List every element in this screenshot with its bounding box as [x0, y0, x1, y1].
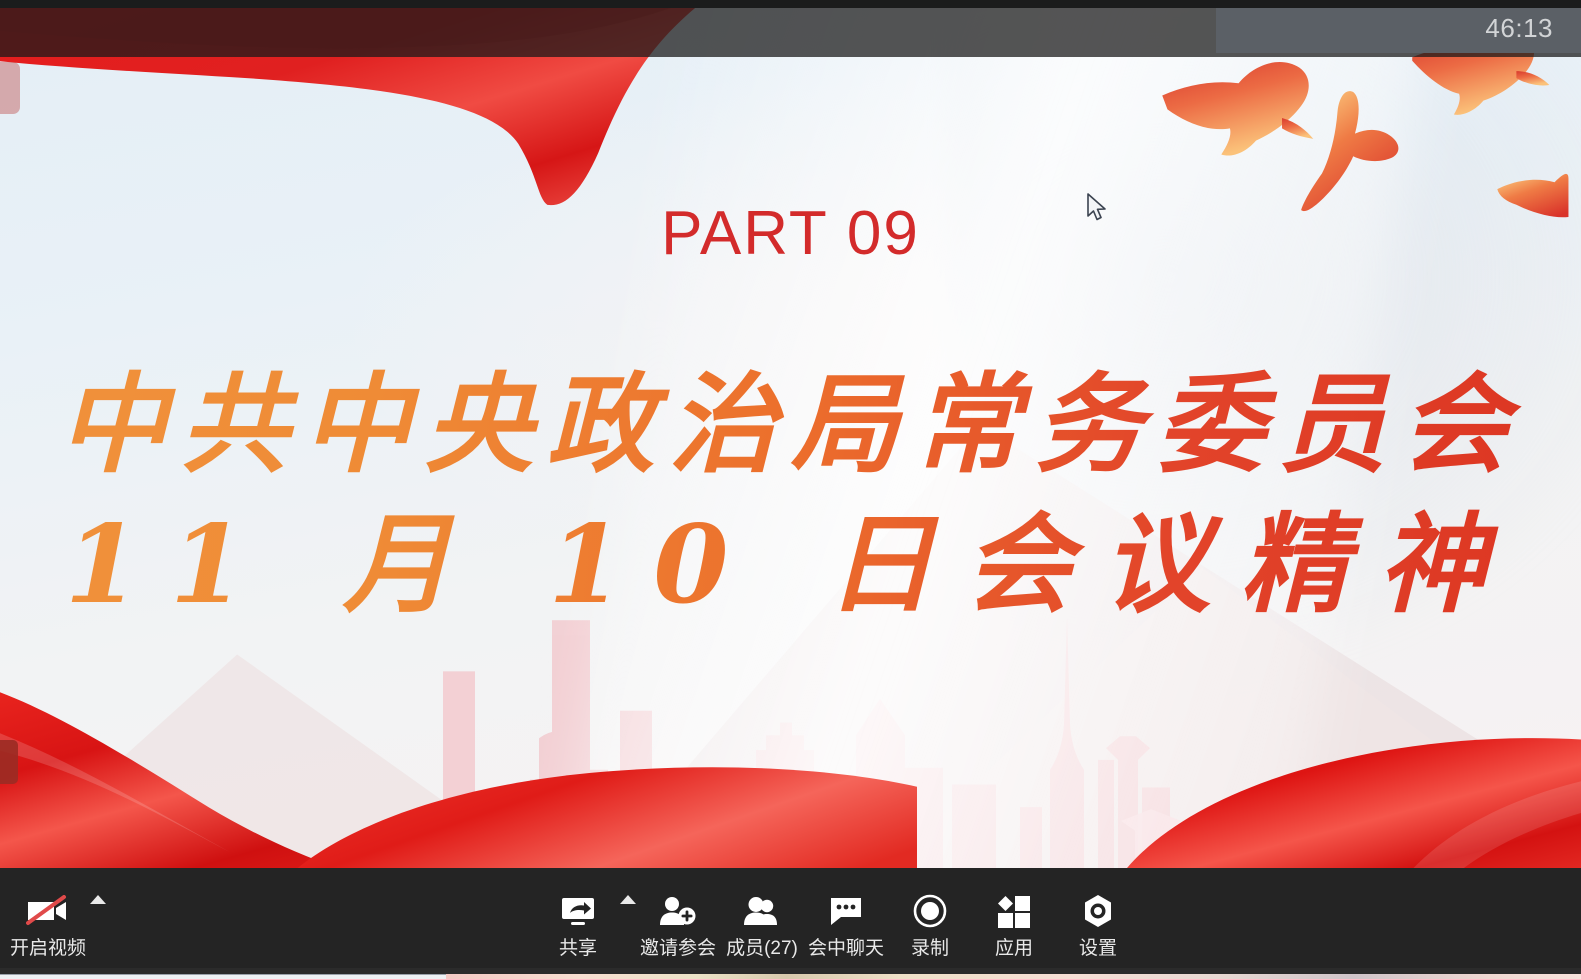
meeting-window: PART 09 中共中央政治局常务委员会 11 月 10 日会议精神 46:13… — [0, 0, 1581, 979]
top-strip — [0, 0, 1581, 8]
participants-button[interactable]: 成员(27) — [720, 891, 804, 968]
slide-edge-marker-bottom — [0, 740, 18, 784]
invite-button[interactable]: 邀请参会 — [636, 891, 720, 968]
video-toggle-label: 开启视频 — [10, 939, 86, 958]
toolbar-center-group: 共享 邀请参会 — [536, 868, 1140, 968]
screen-share-icon — [556, 891, 600, 931]
slide-title-line-1: 中共中央政治局常务委员会 — [0, 338, 1581, 494]
slide-part-label: PART 09 — [0, 198, 1581, 269]
meeting-top-bar: 46:13 — [0, 0, 1581, 57]
share-screen-button[interactable]: 共享 — [536, 891, 620, 968]
background-window-left — [0, 974, 446, 979]
chevron-up-icon — [620, 895, 636, 904]
settings-label: 设置 — [1079, 939, 1117, 958]
chat-bubble-icon — [824, 891, 868, 931]
record-label: 录制 — [911, 939, 949, 958]
background-window-sliver — [0, 968, 1581, 979]
shared-screen-slide: PART 09 中共中央政治局常务委员会 11 月 10 日会议精神 — [0, 0, 1581, 868]
apps-button[interactable]: 应用 — [972, 891, 1056, 968]
apps-label: 应用 — [995, 939, 1033, 958]
chat-button[interactable]: 会中聊天 — [804, 891, 888, 968]
apps-grid-icon — [992, 891, 1036, 931]
toolbar-left-group: 开启视频 — [0, 868, 106, 968]
red-silk-bottom-right — [949, 694, 1581, 868]
video-toggle-button[interactable]: 开启视频 — [6, 891, 90, 968]
video-options-caret[interactable] — [90, 868, 106, 968]
share-options-caret[interactable] — [620, 868, 636, 968]
chat-label: 会中聊天 — [808, 939, 884, 958]
red-silk-bottom-left — [0, 608, 917, 868]
settings-gear-icon — [1076, 891, 1120, 931]
participants-icon — [740, 891, 784, 931]
invite-label: 邀请参会 — [640, 939, 716, 958]
meeting-toolbar: 开启视频 共享 — [0, 868, 1581, 968]
record-button[interactable]: 录制 — [888, 891, 972, 968]
slide-title-line-2: 11 月 10 日会议精神 — [0, 478, 1581, 634]
share-screen-label: 共享 — [559, 939, 597, 958]
slide-edge-marker-top — [0, 62, 20, 114]
background-window-right — [446, 974, 1581, 979]
chevron-up-icon — [90, 895, 106, 904]
user-add-icon — [656, 891, 700, 931]
video-off-icon — [26, 891, 70, 931]
settings-button[interactable]: 设置 — [1056, 891, 1140, 968]
record-circle-icon — [908, 891, 952, 931]
meeting-timer: 46:13 — [1485, 13, 1553, 44]
participants-label: 成员(27) — [726, 939, 798, 958]
